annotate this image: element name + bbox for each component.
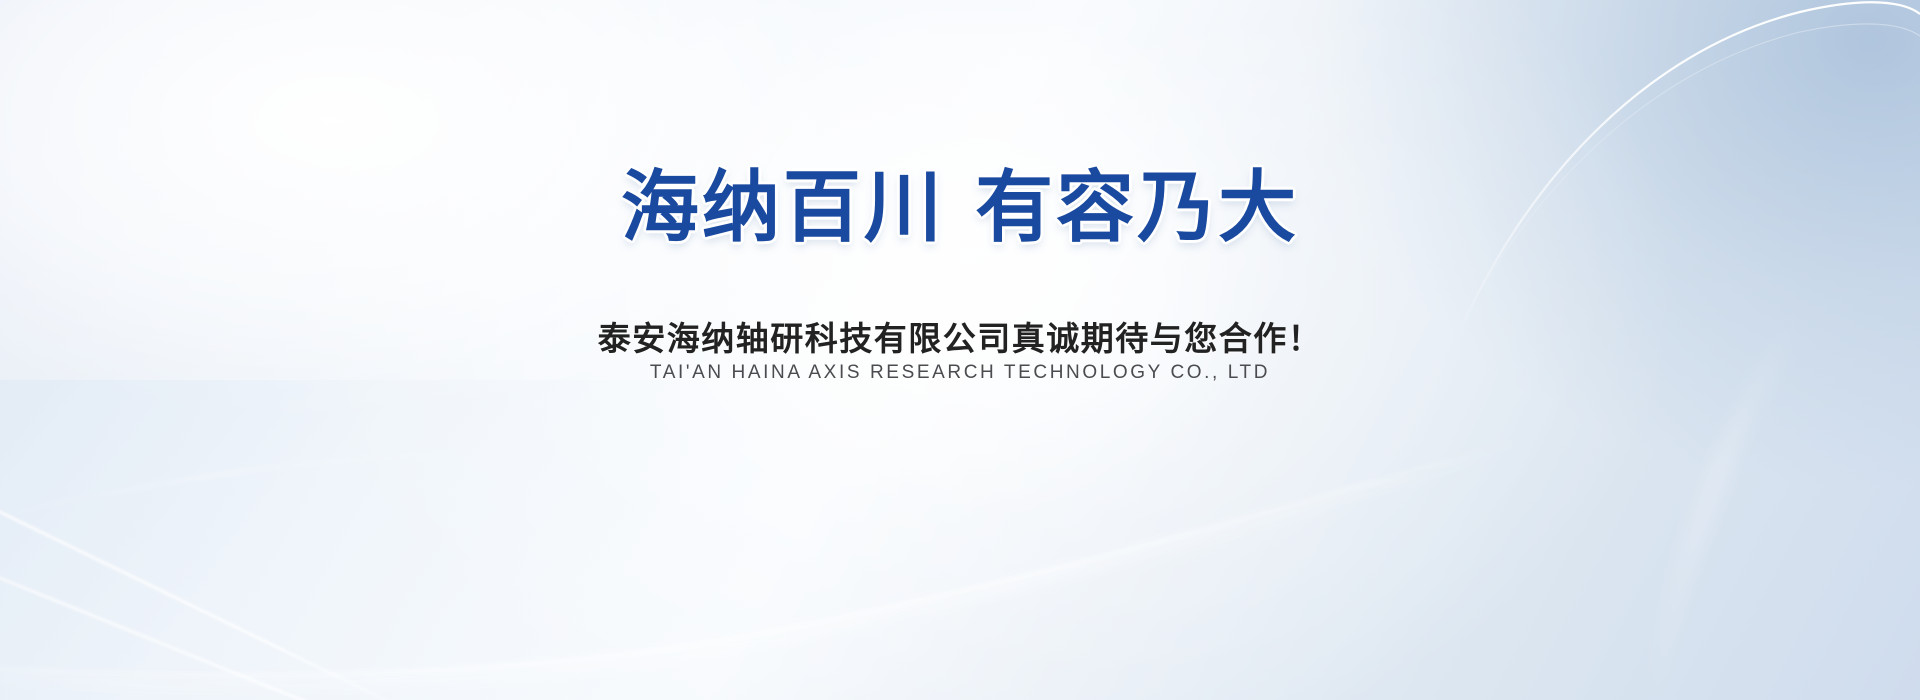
page-title: 海纳百川 有容乃大 [0,168,1920,250]
hero-banner: 海纳百川 有容乃大 泰安海纳轴研科技有限公司真诚期待与您合作！ TAI'AN H… [0,0,1920,700]
subtitle-english: TAI'AN HAINA AXIS RESEARCH TECHNOLOGY CO… [0,362,1920,384]
subtitle-chinese: 泰安海纳轴研科技有限公司真诚期待与您合作！ [0,312,1920,360]
banner-content: 海纳百川 有容乃大 泰安海纳轴研科技有限公司真诚期待与您合作！ TAI'AN H… [0,0,1920,700]
